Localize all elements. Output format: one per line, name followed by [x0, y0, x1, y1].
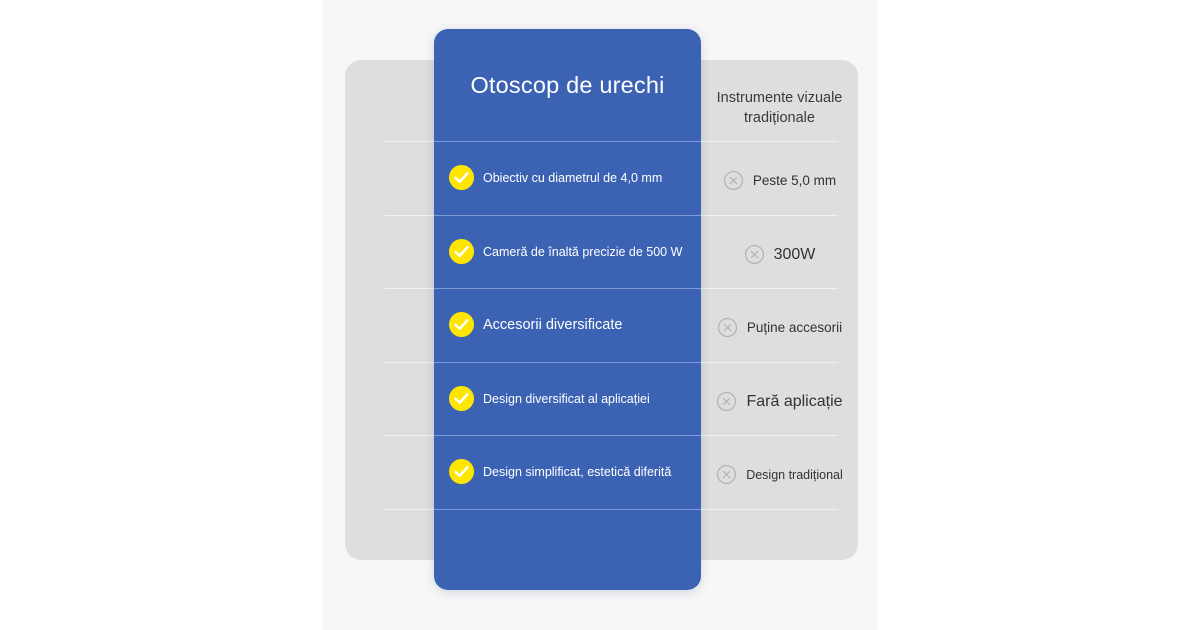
- hero-product-card: Otoscop de urechi Obiectiv cu diametrul …: [434, 29, 701, 590]
- hero-row: Obiectiv cu diametrul de 4,0 mm: [434, 141, 701, 215]
- legacy-row-label: Peste 5,0 mm: [753, 173, 836, 188]
- hero-row: Design simplificat, estetică diferită: [434, 435, 701, 509]
- hero-title: Otoscop de urechi: [434, 29, 701, 141]
- legacy-row-label: 300W: [774, 246, 816, 264]
- check-circle-icon: [448, 385, 475, 412]
- legacy-row: Puține accesorii: [701, 291, 858, 365]
- legacy-row-label: Fară aplicație: [746, 393, 842, 411]
- check-circle-icon: [448, 311, 475, 338]
- legacy-row-label: Puține accesorii: [747, 320, 842, 335]
- x-circle-icon: [717, 317, 738, 338]
- legacy-row: Fară aplicație: [701, 365, 858, 439]
- hero-row-label: Design simplificat, estetică diferită: [483, 465, 671, 479]
- x-circle-icon: [716, 391, 737, 412]
- check-circle-icon: [448, 164, 475, 191]
- legacy-row-label: Design tradițional: [746, 468, 843, 482]
- legacy-header-line-1: Instrumente vizuale: [701, 88, 858, 108]
- hero-row: Accesorii diversificate: [434, 288, 701, 362]
- check-circle-icon: [448, 238, 475, 265]
- hero-row-label: Cameră de înaltă precizie de 500 W: [483, 245, 682, 259]
- hero-row-label: Accesorii diversificate: [483, 317, 622, 333]
- legacy-header-line-2: tradiționale: [701, 108, 858, 128]
- legacy-column-header: Instrumente vizuale tradiționale: [701, 88, 858, 128]
- x-circle-icon: [744, 244, 765, 265]
- hero-divider: [434, 509, 701, 510]
- x-circle-icon: [723, 170, 744, 191]
- comparison-infographic: Instrumente vizuale tradiționale Peste 5…: [0, 0, 1200, 630]
- check-circle-icon: [448, 458, 475, 485]
- legacy-row: Peste 5,0 mm: [701, 144, 858, 218]
- legacy-row: Design tradițional: [701, 438, 858, 512]
- x-circle-icon: [716, 464, 737, 485]
- hero-row: Design diversificat al aplicației: [434, 362, 701, 436]
- hero-row: Cameră de înaltă precizie de 500 W: [434, 215, 701, 289]
- hero-row-label: Obiectiv cu diametrul de 4,0 mm: [483, 171, 662, 185]
- legacy-row: 300W: [701, 218, 858, 292]
- hero-row-label: Design diversificat al aplicației: [483, 392, 650, 406]
